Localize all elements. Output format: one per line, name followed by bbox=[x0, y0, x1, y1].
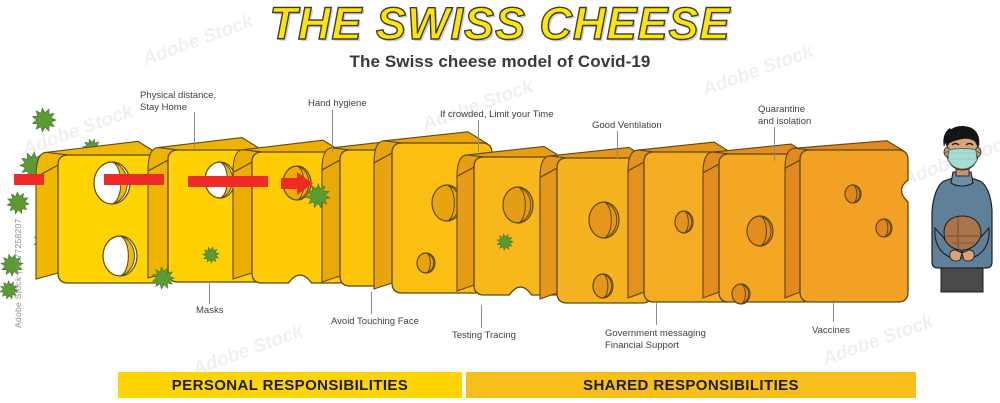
banner-personal-responsibilities[interactable]: PERSONAL RESPONSIBILITIES bbox=[118, 372, 462, 398]
cheese-slice-side-edge bbox=[374, 153, 392, 289]
label-vaccines: Vaccines bbox=[812, 325, 850, 337]
cheese-slice bbox=[36, 141, 166, 283]
cheese-slice-side-edge bbox=[785, 160, 800, 298]
label-quarantine-isolation: Quarantine and isolation bbox=[758, 104, 811, 127]
swiss-cheese-diagram bbox=[0, 0, 1000, 403]
leader-line-vaccines bbox=[833, 300, 834, 322]
label-limit-time: If crowded, Limit your Time bbox=[440, 109, 554, 121]
leader-line-testing-tracing bbox=[481, 305, 482, 328]
leader-line-masks bbox=[209, 282, 210, 304]
cheese-slice-top-edge bbox=[638, 142, 730, 152]
cheese-slice-side-edge bbox=[322, 160, 340, 282]
label-good-ventilation: Good Ventilation bbox=[592, 120, 662, 132]
leader-line-avoid-touching-face bbox=[371, 292, 372, 314]
label-avoid-touching-face: Avoid Touching Face bbox=[331, 316, 419, 328]
cheese-slice-side-edge bbox=[703, 164, 719, 298]
leader-line-physical-distance bbox=[194, 112, 195, 150]
cheese-slice-top-edge bbox=[158, 138, 262, 150]
cheese-slice-top-edge bbox=[384, 132, 486, 143]
cheese-slice-side-edge bbox=[628, 162, 644, 298]
leader-line-government-messaging bbox=[656, 303, 657, 325]
cheese-slice-top-edge bbox=[795, 141, 902, 150]
banner-personal-label: PERSONAL RESPONSIBILITIES bbox=[172, 377, 408, 394]
cheese-slice-side-edge bbox=[540, 168, 557, 299]
infographic-canvas: Adobe Stock Adobe Stock Adobe Stock Adob… bbox=[0, 0, 1000, 403]
banner-shared-label: SHARED RESPONSIBILITIES bbox=[583, 377, 799, 394]
virus-particle bbox=[32, 108, 56, 132]
cheese-slice-side-edge bbox=[457, 167, 474, 291]
label-government-messaging: Government messaging Financial Support bbox=[605, 328, 706, 351]
label-masks: Masks bbox=[196, 305, 223, 317]
leader-line-quarantine-isolation bbox=[774, 127, 775, 161]
cheese-slice bbox=[785, 141, 908, 302]
stock-watermark-text: Adobe Stock | #577258207 bbox=[13, 198, 23, 328]
leader-line-limit-time bbox=[478, 120, 479, 152]
leader-line-good-ventilation bbox=[617, 131, 618, 159]
label-testing-tracing: Testing Tracing bbox=[452, 330, 516, 342]
masked-person-illustration bbox=[932, 126, 992, 292]
banner-shared-responsibilities[interactable]: SHARED RESPONSIBILITIES bbox=[466, 372, 916, 398]
cheese-slice-top-edge bbox=[46, 141, 160, 155]
leader-line-hand-hygiene bbox=[332, 110, 333, 152]
label-hand-hygiene: Hand hygiene bbox=[308, 98, 367, 110]
label-physical-distance: Physical distance, Stay Home bbox=[140, 90, 216, 113]
